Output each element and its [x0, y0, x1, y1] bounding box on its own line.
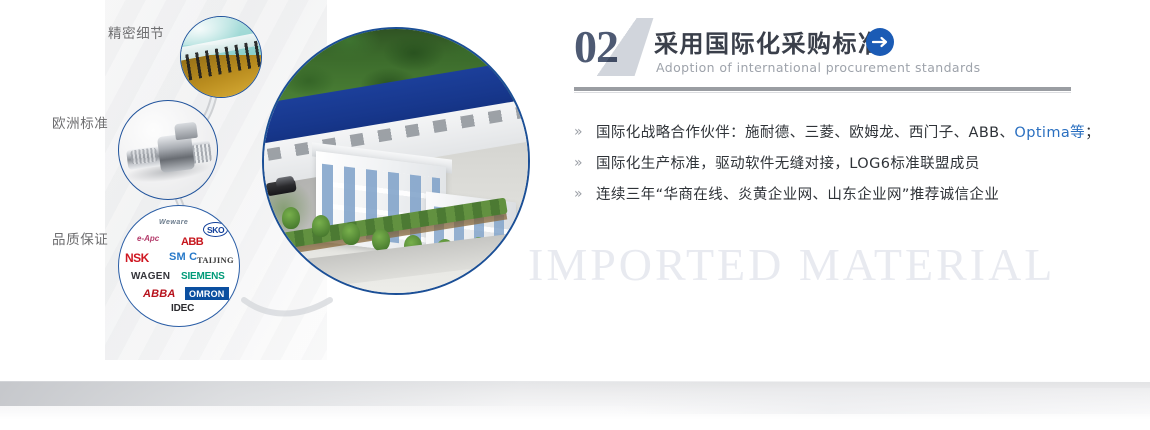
brand-logo-sko: SKO [203, 222, 228, 237]
left-label-precision: 精密细节 [108, 22, 164, 42]
brand-logo-abba: ABBA [143, 288, 176, 300]
section-content: 02 采用国际化采购标准 Adoption of international p… [574, 20, 1094, 82]
list-item-text: 国际化战略合作伙伴：施耐德、三菱、欧姆龙、西门子、ABB、Optima等； [596, 121, 1100, 142]
quality-brands-bubble: Weware SKO e-Apc ABB NSK SM C TAIJING WA… [118, 205, 240, 327]
gear-highlight [180, 16, 241, 45]
european-standard-photo-bubble [118, 100, 218, 200]
list-item: » 国际化生产标准，驱动软件无缝对接，LOG6标准联盟成员 [574, 147, 1094, 178]
left-label-european-standard: 欧洲标准 [52, 112, 108, 132]
list-item-highlight: Optima等 [1014, 125, 1085, 141]
floor-sheen-right [620, 388, 1150, 414]
brand-logo-siemens: SIEMENS [181, 271, 225, 282]
brand-logo-abb: ABB [181, 236, 203, 248]
list-item: » 连续三年“华商在线、炎黄企业网、山东企业网”推荐诚信企业 [574, 178, 1094, 209]
landscape-tree [372, 229, 390, 251]
brand-logo-weware: Weware [159, 219, 188, 226]
brand-logo-smc: SM C [169, 251, 197, 263]
section-header: 02 采用国际化采购标准 Adoption of international p… [574, 20, 1094, 82]
brand-logo-eapc: e-Apc [137, 234, 159, 243]
left-label-quality-assurance: 品质保证 [52, 228, 108, 248]
brand-logo-nsk: NSK [125, 251, 149, 265]
brand-logo-idec: IDEC [171, 303, 194, 314]
landscape-tree [282, 207, 300, 229]
header-divider [574, 86, 1071, 91]
page-title: 采用国际化采购标准 [654, 24, 884, 59]
landscape-tree [312, 215, 330, 237]
screw-cap [174, 122, 198, 141]
list-item-text: 连续三年“华商在线、炎黄企业网、山东企业网”推荐诚信企业 [596, 183, 999, 204]
bullet-marker-icon: » [574, 125, 596, 139]
brand-logo-omron: OMRON [185, 287, 229, 300]
list-item-text-main: 国际化战略合作伙伴：施耐德、三菱、欧姆龙、西门子、ABB、 [596, 125, 1014, 141]
idec-mark-icon [119, 217, 123, 227]
arrow-right-circle-icon[interactable] [866, 28, 894, 56]
brand-logo-taijing: TAIJING [197, 255, 234, 265]
landscape-tree [342, 223, 360, 245]
list-item-text: 国际化生产标准，驱动软件无缝对接，LOG6标准联盟成员 [596, 152, 980, 173]
precision-detail-photo-bubble [180, 16, 262, 98]
factory-overview-photo-bubble [262, 27, 530, 295]
bullet-marker-icon: » [574, 156, 596, 170]
list-item-text-tail: ； [1085, 125, 1100, 141]
bullet-marker-icon: » [574, 187, 596, 201]
list-item: » 国际化战略合作伙伴：施耐德、三菱、欧姆龙、西门子、ABB、Optima等； [574, 116, 1094, 147]
promo-banner: 精密细节 欧洲标准 品质保证 Weware SKO e-Apc ABB NSK … [0, 0, 1150, 430]
feature-list: » 国际化战略合作伙伴：施耐德、三菱、欧姆龙、西门子、ABB、Optima等； … [574, 116, 1094, 209]
header-divider-thin [574, 92, 1071, 93]
brand-logo-wagen: WAGEN [131, 271, 170, 282]
watermark-text: IMPORTED MATERIAL [528, 238, 1055, 291]
smc-mark-icon [119, 206, 134, 217]
page-subtitle: Adoption of international procurement st… [656, 60, 981, 75]
